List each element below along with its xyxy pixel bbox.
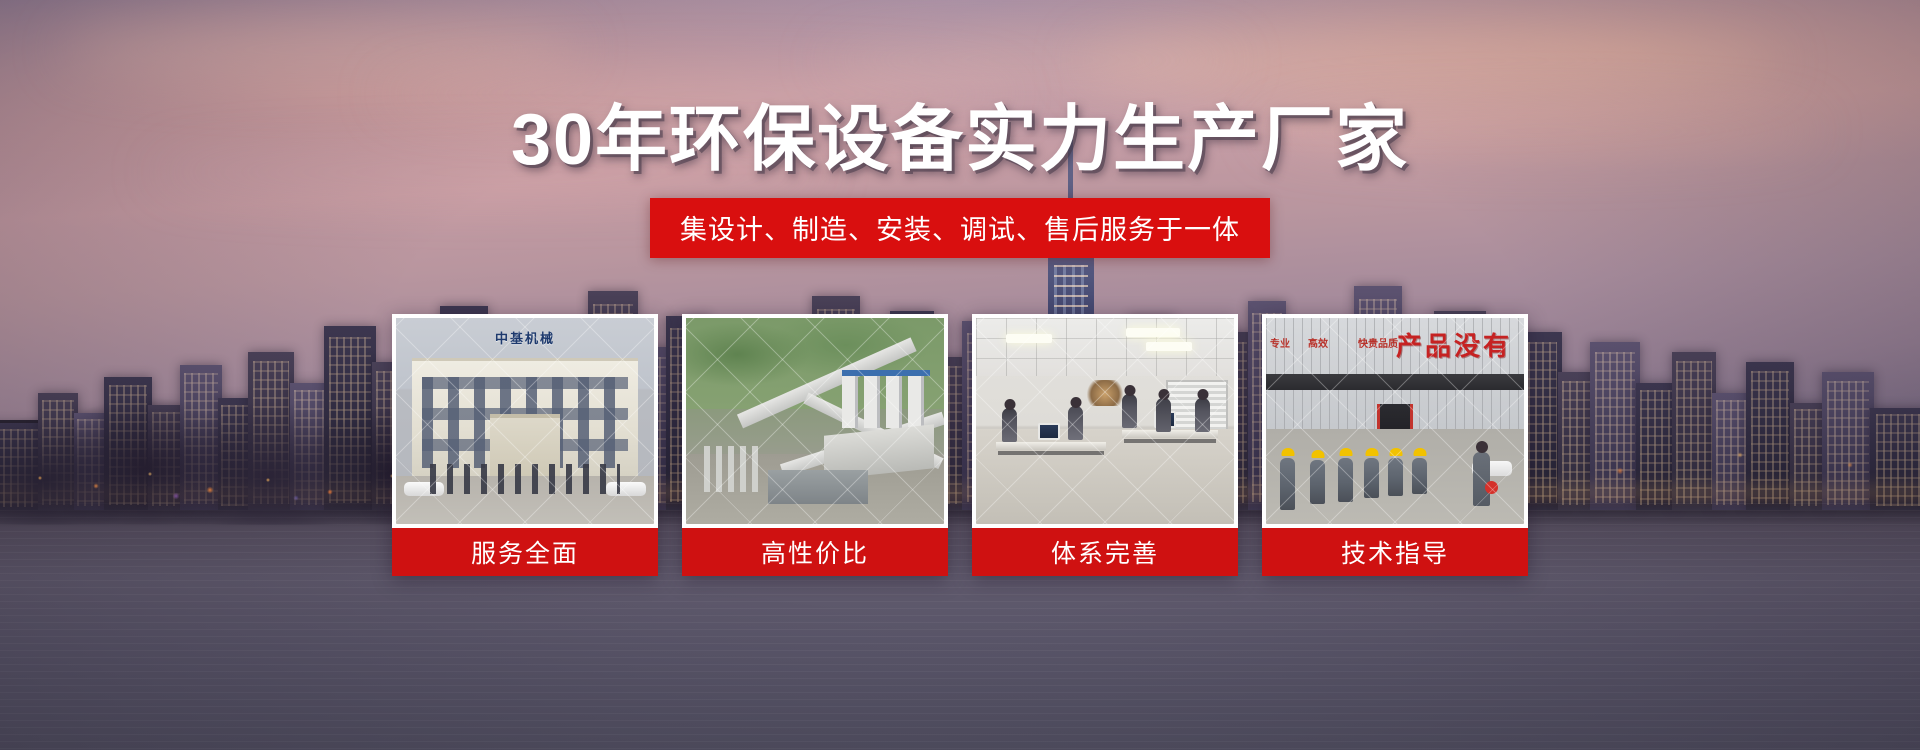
card-caption: 高性价比 xyxy=(682,528,948,576)
feature-card[interactable]: 中基机械 服务全面 xyxy=(392,314,658,576)
card-photo-office-interior xyxy=(976,318,1234,524)
building-signage: 中基机械 xyxy=(495,328,555,347)
card-caption: 服务全面 xyxy=(392,528,658,576)
workshop-slogan: 快贵品质 xyxy=(1358,338,1398,352)
workshop-wall-text: 产品没有 xyxy=(1396,326,1512,363)
card-photo-office-building: 中基机械 xyxy=(396,318,654,524)
banner-content: 30年环保设备实力生产厂家 集设计、制造、安装、调试、售后服务于一体 中基机械 xyxy=(0,0,1920,750)
card-photo-workshop-workers: 产品没有 专业 高效 快贵品质 xyxy=(1266,318,1524,524)
banner-headline: 30年环保设备实力生产厂家 xyxy=(511,104,1409,176)
feature-card-row: 中基机械 服务全面 xyxy=(392,314,1528,576)
feature-card[interactable]: 产品没有 专业 高效 快贵品质 xyxy=(1262,314,1528,576)
workshop-slogan: 专业 xyxy=(1270,338,1290,352)
card-caption: 体系完善 xyxy=(972,528,1238,576)
card-photo-aerial-plant xyxy=(686,318,944,524)
workshop-slogan: 高效 xyxy=(1308,338,1328,352)
card-caption: 技术指导 xyxy=(1262,528,1528,576)
hero-banner: 30年环保设备实力生产厂家 集设计、制造、安装、调试、售后服务于一体 中基机械 xyxy=(0,0,1920,750)
banner-subtitle-pill: 集设计、制造、安装、调试、售后服务于一体 xyxy=(650,198,1270,258)
feature-card[interactable]: 体系完善 xyxy=(972,314,1238,576)
feature-card[interactable]: 高性价比 xyxy=(682,314,948,576)
